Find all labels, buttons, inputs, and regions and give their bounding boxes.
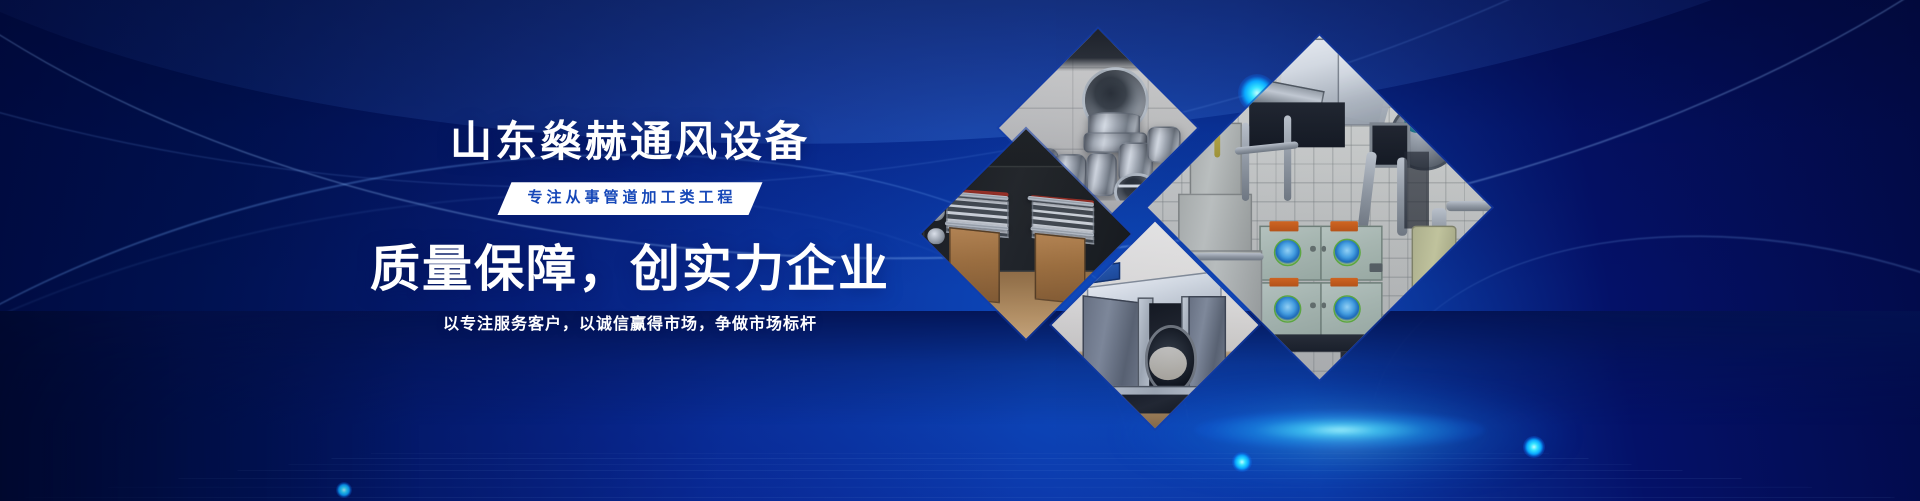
ribbon-wrapper: 专注从事管道加工类工程 <box>340 182 920 215</box>
diamond-photo-collage <box>960 40 1560 470</box>
grid-left-fade <box>0 311 420 501</box>
tagline-ribbon: 专注从事管道加工类工程 <box>497 182 762 215</box>
headline: 质量保障，创实力企业 <box>340 241 920 299</box>
sub-tagline: 以专注服务客户，以诚信赢得市场，争做市场标杆 <box>340 315 920 336</box>
hero-banner: 山东燊赫通风设备 专注从事管道加工类工程 质量保障，创实力企业 以专注服务客户，… <box>0 0 1920 501</box>
hero-text-block: 山东燊赫通风设备 专注从事管道加工类工程 质量保障，创实力企业 以专注服务客户，… <box>340 118 920 335</box>
brand-title: 山东燊赫通风设备 <box>340 118 920 166</box>
